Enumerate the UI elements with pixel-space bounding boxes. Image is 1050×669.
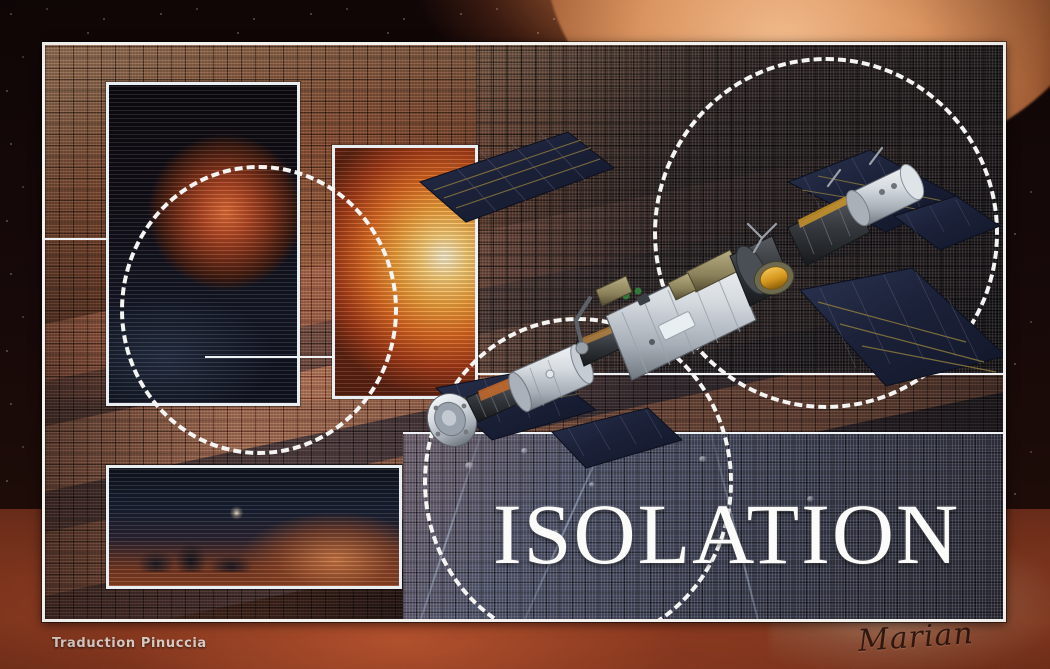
orbit-ring-left bbox=[120, 165, 398, 455]
space-station-illustration bbox=[400, 120, 1003, 495]
photo-grid-overlay bbox=[109, 468, 399, 586]
artwork-canvas: ISOLATION Traduction Pinuccia Marian bbox=[0, 0, 1050, 669]
artwork-frame: ISOLATION bbox=[42, 42, 1006, 622]
solar-array-mid-right bbox=[800, 268, 1003, 386]
photo-mars-landscape bbox=[106, 465, 402, 589]
solar-array-upper-left bbox=[420, 132, 614, 222]
collage-layer: ISOLATION bbox=[45, 45, 1003, 619]
page-title: ISOLATION bbox=[493, 493, 1003, 576]
translation-credit: Traduction Pinuccia bbox=[52, 636, 207, 651]
rule-line-left bbox=[45, 238, 107, 240]
